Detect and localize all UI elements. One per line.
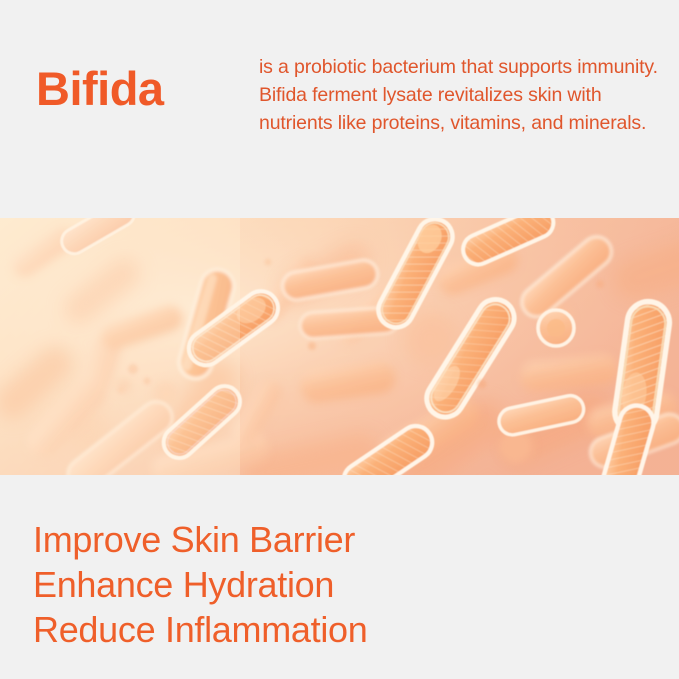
ingredient-description-text: is a probiotic bacterium that supports i… xyxy=(259,53,663,138)
benefit-item: Reduce Inflammation xyxy=(33,612,367,648)
intro-section: Bifida is a probiotic bacterium that sup… xyxy=(0,0,679,218)
bacteria-image-band xyxy=(0,218,679,475)
ingredient-name-heading: Bifida xyxy=(36,64,164,113)
bacteria-illustration xyxy=(0,218,679,475)
benefit-item: Improve Skin Barrier xyxy=(33,522,355,558)
benefits-section: Improve Skin Barrier Enhance Hydration R… xyxy=(0,475,679,679)
benefit-item: Enhance Hydration xyxy=(33,567,334,603)
product-ingredient-infographic: Bifida is a probiotic bacterium that sup… xyxy=(0,0,679,679)
